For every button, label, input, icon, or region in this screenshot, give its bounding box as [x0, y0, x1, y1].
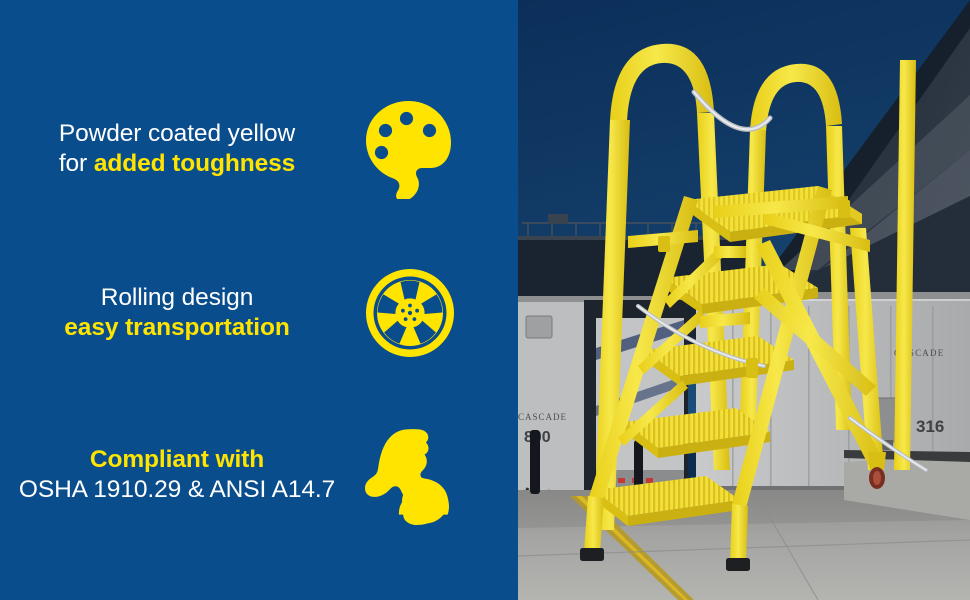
feature-text-rolling-design: Rolling design easy transportation	[10, 283, 362, 343]
feature-line-standards: OSHA 1910.29 & ANSI A14.7	[10, 475, 344, 505]
feature-line-secondary: for added toughness	[10, 149, 344, 179]
wheel-rim-icon	[362, 261, 458, 365]
feature-item-compliance: Compliant with OSHA 1910.29 & ANSI A14.7	[0, 411, 518, 539]
feature-text-compliance: Compliant with OSHA 1910.29 & ANSI A14.7	[10, 445, 362, 505]
paint-palette-icon	[362, 97, 458, 201]
feature-line-primary: Rolling design	[10, 283, 344, 313]
feature-banner: Powder coated yellow for added toughness…	[0, 0, 970, 600]
feature-text-powder-coat: Powder coated yellow for added toughness	[10, 119, 362, 179]
feature-item-rolling-design: Rolling design easy transportation	[0, 249, 518, 377]
feature-line-primary: Powder coated yellow	[10, 119, 344, 149]
product-photo: CASCADE 316 CASCADE 800	[518, 0, 970, 600]
feature-line-emphasis: Compliant with	[10, 445, 344, 475]
features-panel: Powder coated yellow for added toughness…	[0, 0, 518, 600]
svg-text:CASCADE: CASCADE	[518, 412, 567, 422]
svg-text:316: 316	[916, 417, 944, 436]
feature-line-emphasis: added toughness	[94, 150, 295, 177]
feature-line-emphasis: easy transportation	[10, 313, 344, 343]
feature-line-prefix: for	[59, 150, 94, 177]
feature-item-powder-coat: Powder coated yellow for added toughness	[0, 85, 518, 213]
flexed-bicep-icon	[362, 423, 458, 527]
